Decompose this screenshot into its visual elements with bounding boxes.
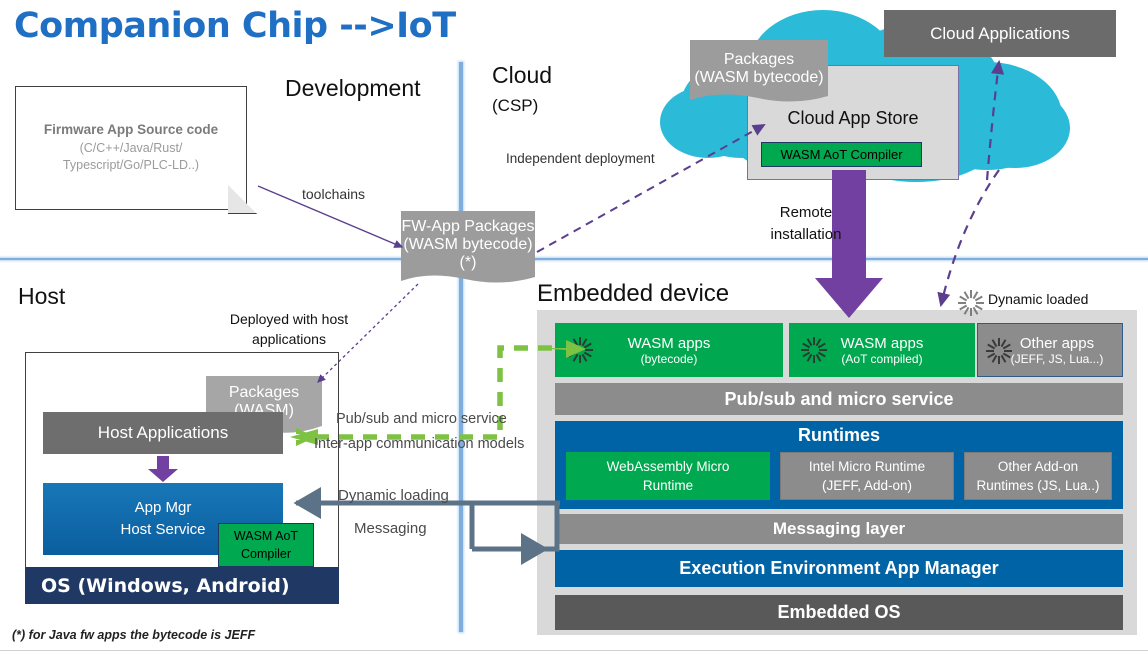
label-inter-app-communication: Inter-app communication models (314, 436, 524, 452)
label-remote-installation-l1: Remote (760, 202, 852, 224)
footnote: (*) for Java fw apps the bytecode is JEF… (12, 628, 255, 642)
label-messaging: Messaging (354, 520, 427, 537)
label-remote-installation: Remote installation (760, 202, 852, 246)
label-dynamic-loading: Dynamic loading (338, 487, 449, 504)
label-toolchains: toolchains (302, 186, 365, 202)
legend-dynamic-loaded-label: Dynamic loaded (988, 291, 1088, 307)
label-independent-deployment: Independent deployment (506, 151, 655, 166)
connector-overlay (0, 0, 1148, 653)
bottom-rule (0, 650, 1148, 651)
label-deployed-l2: applications (208, 329, 370, 349)
label-deployed-with-host-apps: Deployed with host applications (208, 309, 370, 349)
label-remote-installation-l2: installation (760, 224, 852, 246)
spinner-icon (958, 290, 984, 316)
label-pubsub-micro-service: Pub/sub and micro service (336, 411, 507, 427)
label-deployed-l1: Deployed with host (208, 309, 370, 329)
